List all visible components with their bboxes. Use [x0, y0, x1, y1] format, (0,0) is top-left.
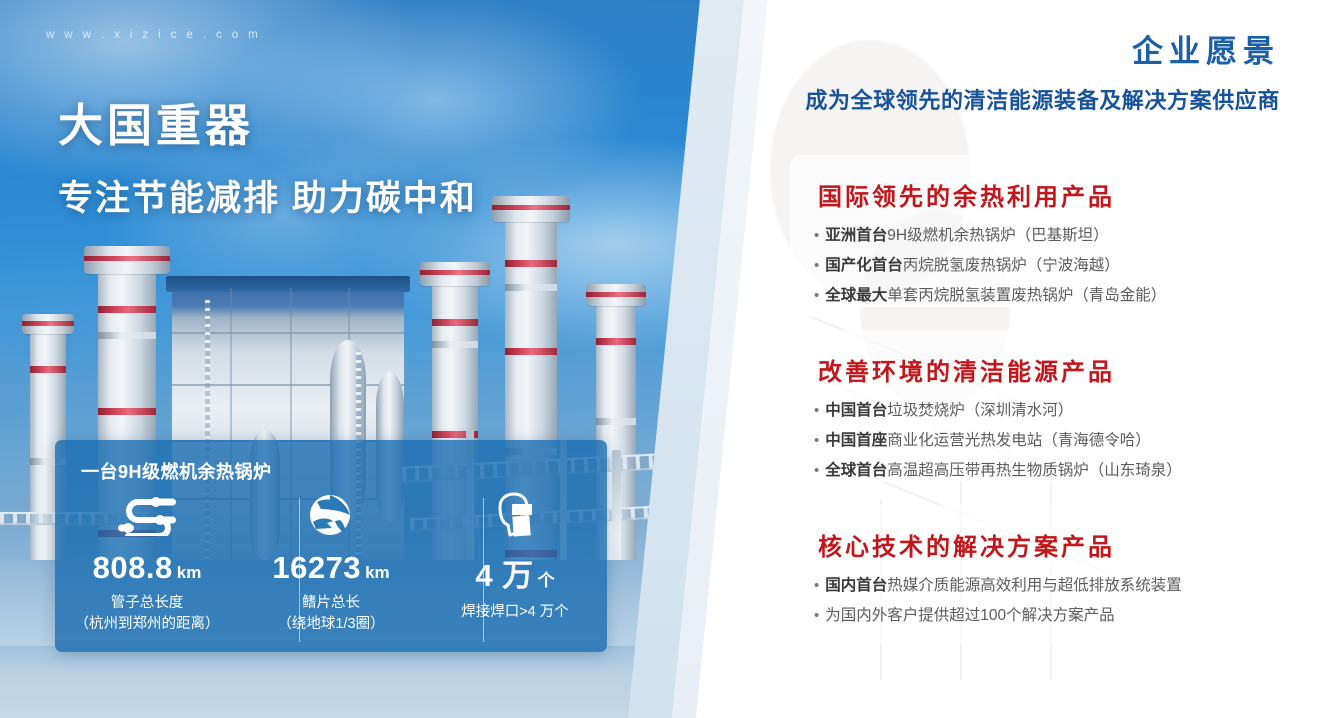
- list-item: • 国内首台热媒介质能源高效利用与超低排放系统装置: [814, 571, 1246, 601]
- bullet-icon: •: [814, 281, 819, 310]
- stat-value: 4 万: [475, 558, 533, 593]
- stat-label: 鳍片总长 （绕地球1/3圈）: [277, 593, 384, 635]
- chimney-cap: [420, 262, 490, 286]
- list-item-rest: 丙烷脱氢废热锅炉（宁波海越）: [903, 251, 1120, 281]
- list-item: • 亚洲首台9H级燃机余热锅炉（巴基斯坦）: [814, 221, 1246, 251]
- list-item-strong: 中国首台: [825, 396, 887, 426]
- pipe-route-icon: [116, 492, 178, 538]
- card-heading: 核心技术的解决方案产品: [818, 527, 1115, 562]
- page-subtitle: 成为全球领先的清洁能源装备及解决方案供应商: [805, 83, 1280, 115]
- stat-unit: km: [365, 563, 390, 582]
- welding-helmet-icon: [492, 492, 538, 538]
- list-item: • 为国内外客户提供超过100个解决方案产品: [814, 601, 1246, 631]
- list-item-strong: 亚洲首台: [825, 221, 887, 251]
- list-item: • 全球最大单套丙烷脱氢装置废热锅炉（青岛金能）: [814, 281, 1246, 311]
- list-item-rest: 热媒介质能源高效利用与超低排放系统装置: [887, 571, 1182, 601]
- stat-column-fin-length: 16273km 鳍片总长 （绕地球1/3圈）: [239, 492, 423, 635]
- chimney-cap: [84, 246, 170, 274]
- list-item: • 中国首座商业化运营光热发电站（青海德令哈）: [814, 426, 1246, 456]
- bullet-icon: •: [814, 601, 819, 630]
- card-heading: 改善环境的清洁能源产品: [818, 352, 1115, 387]
- bullet-icon: •: [814, 456, 819, 485]
- headline-secondary: 专注节能减排 助力碳中和: [58, 170, 477, 221]
- bullet-icon: •: [814, 396, 819, 425]
- list-item-rest: 为国内外客户提供超过100个解决方案产品: [825, 601, 1114, 631]
- stat-label-line1: 鳍片总长: [277, 593, 384, 614]
- list-item-strong: 中国首座: [825, 426, 887, 456]
- stat-value-row: 16273km: [272, 550, 389, 586]
- card-list: • 亚洲首台9H级燃机余热锅炉（巴基斯坦） • 国产化首台丙烷脱氢废热锅炉（宁波…: [814, 221, 1246, 312]
- stat-label: 管子总长度 （杭州到郑州的距离）: [75, 593, 220, 635]
- stat-label-line2: （绕地球1/3圈）: [277, 614, 384, 635]
- stat-value-row: 4 万个: [475, 550, 554, 595]
- bullet-icon: •: [814, 571, 819, 600]
- list-item-strong: 全球最大: [825, 281, 887, 311]
- list-item-rest: 垃圾焚烧炉（深圳清水河）: [887, 396, 1073, 426]
- vision-card-3[interactable]: 核心技术的解决方案产品 • 国内首台热媒介质能源高效利用与超低排放系统装置 • …: [790, 505, 1260, 645]
- stats-caption: 一台9H级燃机余热锅炉: [81, 458, 272, 484]
- list-item-strong: 国内首台: [825, 571, 887, 601]
- chimney-cap: [492, 196, 570, 222]
- ground-foreground: [0, 646, 700, 718]
- hero-headline: 大国重器 专注节能减排 助力碳中和: [58, 98, 477, 221]
- chimney-cap: [586, 284, 646, 306]
- stat-unit: km: [177, 563, 202, 582]
- list-item: • 全球首台高温超高压带再热生物质锅炉（山东琦泉）: [814, 456, 1246, 486]
- stats-columns: 808.8km 管子总长度 （杭州到郑州的距离）: [55, 492, 607, 635]
- website-watermark: w w w . x i z i c e . c o m: [46, 29, 261, 41]
- stat-value: 808.8: [93, 550, 173, 585]
- stat-column-weld-joints: 4 万个 焊接焊口>4 万个: [423, 492, 607, 635]
- stat-label: 焊接焊口>4 万个: [461, 602, 569, 623]
- list-item-rest: 高温超高压带再热生物质锅炉（山东琦泉）: [887, 456, 1182, 486]
- vision-card-1[interactable]: 国际领先的余热利用产品 • 亚洲首台9H级燃机余热锅炉（巴基斯坦） • 国产化首…: [790, 155, 1260, 307]
- bullet-icon: •: [814, 251, 819, 280]
- stat-value: 16273: [272, 550, 361, 585]
- list-item-strong: 全球首台: [825, 456, 887, 486]
- list-item-rest: 商业化运营光热发电站（青海德令哈）: [887, 426, 1151, 456]
- card-list: • 中国首台垃圾焚烧炉（深圳清水河） • 中国首座商业化运营光热发电站（青海德令…: [814, 396, 1246, 487]
- stat-label-line2: （杭州到郑州的距离）: [75, 614, 220, 635]
- list-item-rest: 单套丙烷脱氢装置废热锅炉（青岛金能）: [887, 281, 1166, 311]
- slide-root: w w w . x i z i c e . c o m 大国重器 专注节能减排 …: [0, 0, 1322, 718]
- bullet-icon: •: [814, 221, 819, 250]
- bullet-icon: •: [814, 426, 819, 455]
- chimney-cap: [22, 314, 74, 334]
- stat-value-row: 808.8km: [93, 550, 202, 586]
- headline-primary: 大国重器: [58, 98, 477, 154]
- globe-arrows-icon: [307, 492, 355, 538]
- hero-photo-panel: w w w . x i z i c e . c o m 大国重器 专注节能减排 …: [0, 0, 700, 718]
- list-item: • 中国首台垃圾焚烧炉（深圳清水河）: [814, 396, 1246, 426]
- card-heading: 国际领先的余热利用产品: [818, 177, 1115, 212]
- list-item: • 国产化首台丙烷脱氢废热锅炉（宁波海越）: [814, 251, 1246, 281]
- stat-unit: 个: [538, 571, 555, 590]
- stats-panel: 一台9H级燃机余热锅炉: [55, 440, 607, 652]
- list-item-strong: 国产化首台: [825, 251, 903, 281]
- stat-label-line1: 管子总长度: [75, 593, 220, 614]
- vision-card-2[interactable]: 改善环境的清洁能源产品 • 中国首台垃圾焚烧炉（深圳清水河） • 中国首座商业化…: [790, 330, 1260, 482]
- list-item-rest: 9H级燃机余热锅炉（巴基斯坦）: [887, 221, 1108, 251]
- card-list: • 国内首台热媒介质能源高效利用与超低排放系统装置 • 为国内外客户提供超过10…: [814, 571, 1246, 631]
- stat-label-line1: 焊接焊口>4 万个: [461, 602, 569, 623]
- page-title: 企业愿景: [1132, 26, 1280, 71]
- stat-column-pipe-length: 808.8km 管子总长度 （杭州到郑州的距离）: [55, 492, 239, 635]
